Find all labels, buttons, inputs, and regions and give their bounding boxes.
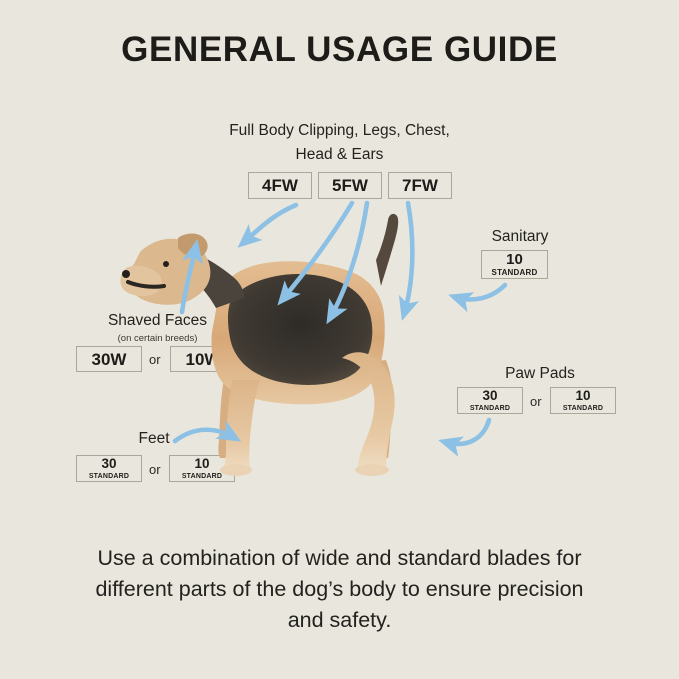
caption-line-2: different parts of the dog’s body to ens… xyxy=(52,574,627,605)
caption-line-1: Use a combination of wide and standard b… xyxy=(52,543,627,574)
dog-nose xyxy=(122,270,130,278)
dog-saddle-marking xyxy=(228,274,372,385)
dog-eye xyxy=(163,261,169,267)
dog-svg xyxy=(120,190,500,490)
badge-number: 10 xyxy=(506,252,523,267)
full-body-label-line1: Full Body Clipping, Legs, Chest, xyxy=(0,122,679,140)
dog-rear-paw xyxy=(355,464,389,476)
dog-illustration xyxy=(120,190,500,490)
footer-caption: Use a combination of wide and standard b… xyxy=(52,543,627,636)
dog-front-paw xyxy=(220,464,252,476)
badge-number: 30 xyxy=(101,457,116,471)
full-body-label-line2: Head & Ears xyxy=(0,146,679,164)
blade-badge-pawpads-10[interactable]: 10 STANDARD xyxy=(550,387,616,414)
badge-number: 10 xyxy=(575,389,590,403)
paw-pads-or-separator: or xyxy=(530,394,542,409)
infographic-page: GENERAL USAGE GUIDE Full Body Clipping, … xyxy=(0,0,679,679)
page-title: GENERAL USAGE GUIDE xyxy=(0,30,679,70)
badge-standard-label: STANDARD xyxy=(563,405,603,412)
caption-line-3: and safety. xyxy=(52,605,627,636)
